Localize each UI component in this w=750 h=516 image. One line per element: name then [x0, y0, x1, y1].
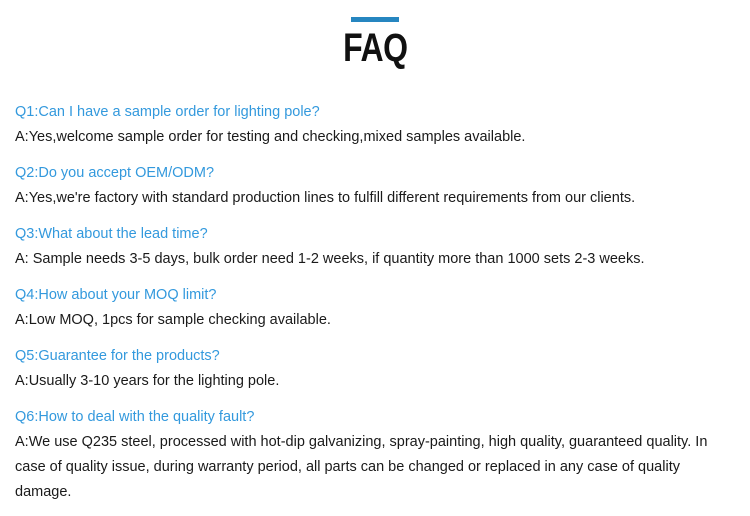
faq-list: Q1:Can I have a sample order for lightin…: [15, 100, 730, 516]
faq-page: FAQ Q1:Can I have a sample order for lig…: [0, 0, 750, 473]
faq-answer: A:Yes,welcome sample order for testing a…: [15, 125, 730, 150]
faq-question: Q3:What about the lead time?: [15, 222, 730, 247]
faq-answer: A:Yes,we're factory with standard produc…: [15, 186, 730, 211]
page-title: FAQ: [343, 26, 408, 70]
faq-question: Q1:Can I have a sample order for lightin…: [15, 100, 730, 125]
faq-answer: A:Low MOQ, 1pcs for sample checking avai…: [15, 308, 730, 333]
faq-item: Q5:Guarantee for the products? A:Usually…: [15, 344, 730, 394]
faq-question: Q4:How about your MOQ limit?: [15, 283, 730, 308]
faq-question: Q5:Guarantee for the products?: [15, 344, 730, 369]
faq-item: Q6:How to deal with the quality fault? A…: [15, 405, 730, 505]
title-accent-bar: [351, 17, 399, 22]
faq-item: Q3:What about the lead time? A: Sample n…: [15, 222, 730, 272]
faq-answer: A:We use Q235 steel, processed with hot-…: [15, 430, 715, 505]
faq-item: Q2:Do you accept OEM/ODM? A:Yes,we're fa…: [15, 161, 730, 211]
page-header: FAQ: [0, 0, 750, 92]
faq-question: Q2:Do you accept OEM/ODM?: [15, 161, 730, 186]
faq-answer: A:Usually 3-10 years for the lighting po…: [15, 369, 730, 394]
faq-question: Q6:How to deal with the quality fault?: [15, 405, 730, 430]
faq-answer: A: Sample needs 3-5 days, bulk order nee…: [15, 247, 730, 272]
faq-item: Q1:Can I have a sample order for lightin…: [15, 100, 730, 150]
faq-item: Q4:How about your MOQ limit? A:Low MOQ, …: [15, 283, 730, 333]
